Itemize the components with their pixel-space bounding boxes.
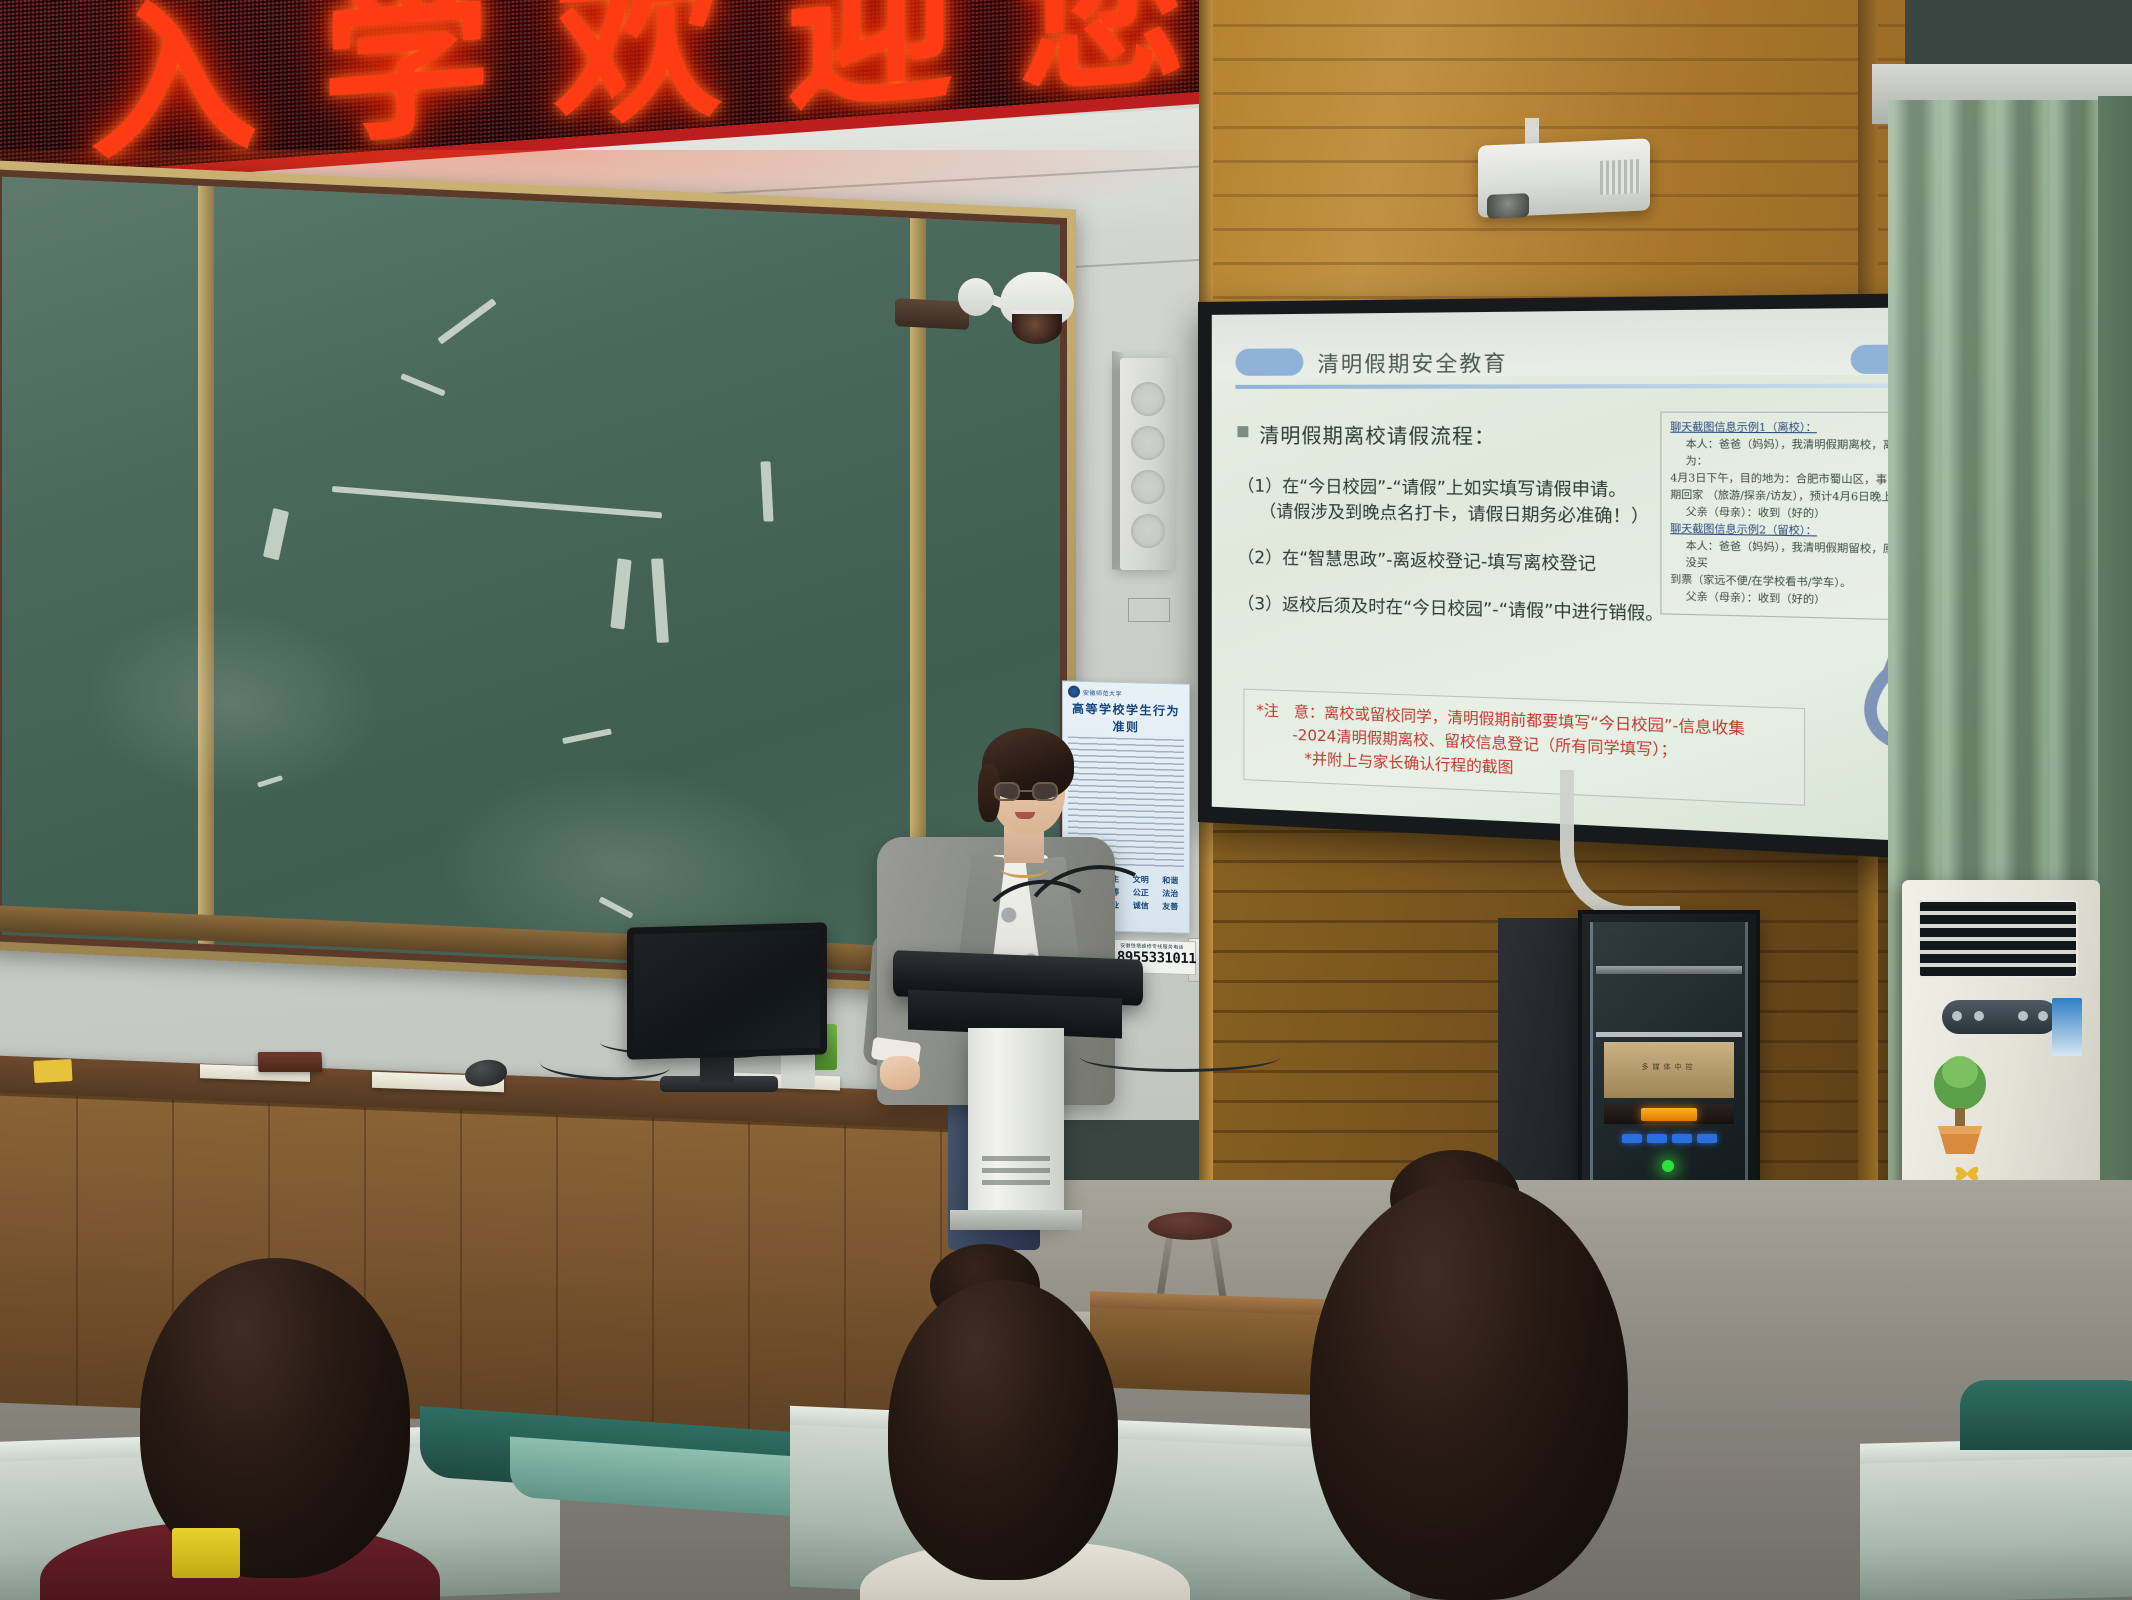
podium-cable xyxy=(1080,1042,1280,1072)
presenter-necklace xyxy=(1000,858,1048,878)
slide-item-1-main: （1）在“今日校园”-“请假”上如实填写请假申请。 xyxy=(1237,476,1626,501)
core-value: 法治 xyxy=(1157,888,1185,900)
chalk-smudge xyxy=(82,600,382,804)
smoke-detector-icon xyxy=(958,278,994,316)
chalk-mark xyxy=(437,298,496,344)
chalk-mark xyxy=(610,558,631,629)
tree-decal-icon xyxy=(1924,1050,1996,1160)
cable-duct xyxy=(1560,770,1680,920)
presenter-hand xyxy=(880,1056,920,1090)
stool[interactable] xyxy=(1148,1212,1232,1240)
slide-item-3: （3）返校后须及时在“今日校园”-“请假”中进行销假。 xyxy=(1237,592,1675,629)
student-seat xyxy=(1960,1380,2132,1450)
poster-org-name: 安徽师范大学 xyxy=(1083,687,1122,697)
glasses-icon xyxy=(994,782,1062,802)
wall-speaker xyxy=(1120,358,1176,570)
rack-lcd-display xyxy=(1641,1108,1697,1121)
projector-vent xyxy=(1600,159,1640,195)
rack-button[interactable] xyxy=(1647,1134,1667,1143)
power-led-icon xyxy=(1662,1160,1674,1172)
poster-title: 高等学校学生行为准则 xyxy=(1068,699,1184,736)
equipment-rack: 多媒体中控 xyxy=(1578,910,1760,1198)
inset-line-2-2: 到票（家远不便/在学校看书/学车）。 xyxy=(1670,574,1851,589)
chalk-mark xyxy=(263,508,289,560)
ac-vent-grille xyxy=(1918,900,2078,978)
monitor-screen xyxy=(634,930,820,1053)
wall-sensor-box xyxy=(1128,598,1170,622)
desktop-monitor[interactable] xyxy=(627,922,827,1059)
chalk-mark xyxy=(562,728,612,744)
ac-energy-label xyxy=(2052,998,2082,1056)
slide-title-underline xyxy=(1235,384,1936,389)
core-value: 和谐 xyxy=(1157,875,1185,887)
rack-button[interactable] xyxy=(1672,1134,1692,1143)
university-seal-icon xyxy=(1068,685,1080,697)
slide-item-1: （1）在“今日校园”-“请假”上如实填写请假申请。 （请假涉及到晚点名打卡，请假… xyxy=(1237,474,1675,531)
camera-dome-lens xyxy=(1012,310,1062,344)
yellow-sticky-note xyxy=(33,1059,72,1083)
slide-item-1-sub: （请假涉及到晚点名打卡，请假日期务必准确！） xyxy=(1237,499,1675,531)
chalk-mark xyxy=(760,461,773,521)
rack-amplifier-label: 多媒体中控 xyxy=(1604,1042,1734,1072)
projector-lens-icon xyxy=(1487,193,1529,219)
podium-base xyxy=(950,1210,1082,1230)
poster-logo: 安徽师范大学 xyxy=(1068,685,1184,700)
classroom-photo: 入学欢迎您 xyxy=(0,0,2132,1600)
slide-item-3-main: （3）返校后须及时在“今日校园”-“请假”中进行销假。 xyxy=(1237,594,1663,625)
rack-amplifier[interactable]: 多媒体中控 xyxy=(1604,1042,1734,1098)
slide-title: 清明假期安全教育 xyxy=(1318,347,1508,379)
chalk-mark xyxy=(332,486,662,518)
ac-display-panel[interactable] xyxy=(1942,1000,2058,1034)
slide-bullet-heading-text: 清明假期离校请假流程： xyxy=(1259,419,1496,450)
student-head-center xyxy=(888,1280,1118,1580)
rack-shelf xyxy=(1596,1032,1742,1037)
slide-item-2-main: （2）在“智慧思政”-离返校登记-填写离校登记 xyxy=(1237,548,1595,575)
slide-title-pill-left xyxy=(1235,348,1303,376)
slide-warning-note: *注 意：离校或留校同学，清明假期前都要填写“今日校园”-信息收集 -2024清… xyxy=(1243,689,1805,806)
chalk-mark xyxy=(400,373,445,396)
curtain-edge xyxy=(2098,96,2132,1196)
book xyxy=(258,1052,323,1072)
student-head-right xyxy=(1310,1180,1628,1600)
rack-button[interactable] xyxy=(1622,1134,1642,1143)
projection-screen: 清明假期安全教育 清明假期离校请假流程： （1）在“今日校园”-“请假”上如实填… xyxy=(1212,307,1957,843)
hair-tie xyxy=(172,1528,240,1578)
rack-button[interactable] xyxy=(1697,1134,1717,1143)
slide-item-2: （2）在“智慧思政”-离返校登记-填写离校登记 xyxy=(1237,546,1675,580)
student-desk xyxy=(1860,1456,2132,1600)
square-bullet-icon xyxy=(1237,426,1248,437)
chalkboard-divider xyxy=(198,186,214,945)
slide-bullet-heading: 清明假期离校请假流程： xyxy=(1237,419,1675,451)
rack-button-row[interactable] xyxy=(1604,1128,1734,1148)
projector-mount xyxy=(1525,118,1539,146)
rack-shelf xyxy=(1596,966,1742,974)
slide-body: 清明假期离校请假流程： （1）在“今日校园”-“请假”上如实填写请假申请。 （请… xyxy=(1237,419,1675,651)
rack-control-strip[interactable] xyxy=(1604,1104,1734,1124)
podium-column xyxy=(968,1028,1064,1218)
chalk-mark xyxy=(651,558,669,642)
